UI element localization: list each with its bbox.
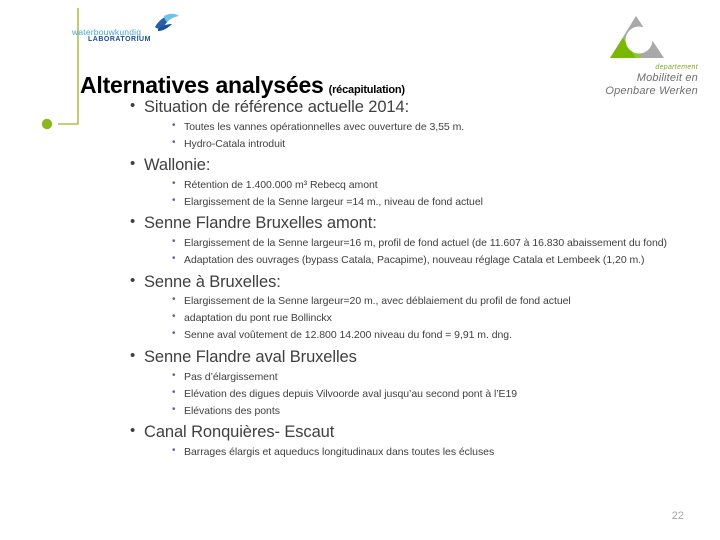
section-group: Canal Ronquières- EscautBarrages élargis… xyxy=(128,422,688,459)
brand-left-line2: LABORATORIUM xyxy=(88,36,151,43)
section-bullet: Rétention de 1.400.000 m³ Rebecq amont xyxy=(170,178,688,192)
section-heading: Senne Flandre Bruxelles amont: xyxy=(128,213,688,235)
section-bullet: Elargissement de la Senne largeur=20 m.,… xyxy=(170,294,688,308)
section-bullet: Elévation des digues depuis Vilvoorde av… xyxy=(170,387,688,401)
section-bullet: Toutes les vannes opérationnelles avec o… xyxy=(170,120,688,134)
section-heading: Canal Ronquières- Escaut xyxy=(128,422,688,444)
waterbouwkundig-laboratorium-logo: waterbouwkundig LABORATORIUM xyxy=(72,12,182,48)
section-heading: Wallonie: xyxy=(128,155,688,177)
page-title-main: Alternatives analysées xyxy=(80,72,324,98)
flemish-government-triangle-icon xyxy=(606,14,668,64)
section-heading: Senne Flandre aval Bruxelles xyxy=(128,347,688,369)
page-number: 22 xyxy=(672,510,684,522)
brand-right-department: departement xyxy=(580,64,698,71)
section-group: Senne Flandre Bruxelles amont:Elargissem… xyxy=(128,213,688,267)
section-bullet: Pas d’élargissement xyxy=(170,370,688,384)
section-bullet: Adaptation des ouvrages (bypass Catala, … xyxy=(170,253,688,267)
waterbouwkundig-laboratorium-bird-icon xyxy=(152,12,180,34)
slide-body: Situation de référence actuelle 2014:Tou… xyxy=(128,97,688,462)
section-bullet: Elargissement de la Senne largeur =14 m.… xyxy=(170,195,688,209)
section-heading: Senne à Bruxelles: xyxy=(128,272,688,294)
section-group: Senne Flandre aval BruxellesPas d’élargi… xyxy=(128,347,688,418)
section-bullet: Senne aval voûtement de 12.800 14.200 ni… xyxy=(170,328,688,342)
page-title-subtitle: (récapitulation) xyxy=(324,84,405,96)
section-bullet: adaptation du pont rue Bollinckx xyxy=(170,311,688,325)
page-title: Alternatives analysées(récapitulation) xyxy=(80,73,600,98)
section-group: Situation de référence actuelle 2014:Tou… xyxy=(128,97,688,151)
section-bullet: Barrages élargis et aqueducs longitudina… xyxy=(170,445,688,459)
section-bullet: Hydro-Catala introduit xyxy=(170,137,688,151)
section-bullet: Elévations des ponts xyxy=(170,404,688,418)
section-heading: Situation de référence actuelle 2014: xyxy=(128,97,688,119)
section-group: Senne à Bruxelles:Elargissement de la Se… xyxy=(128,272,688,343)
section-group: Wallonie:Rétention de 1.400.000 m³ Rebec… xyxy=(128,155,688,209)
section-bullet: Elargissement de la Senne largeur=16 m, … xyxy=(170,236,688,250)
